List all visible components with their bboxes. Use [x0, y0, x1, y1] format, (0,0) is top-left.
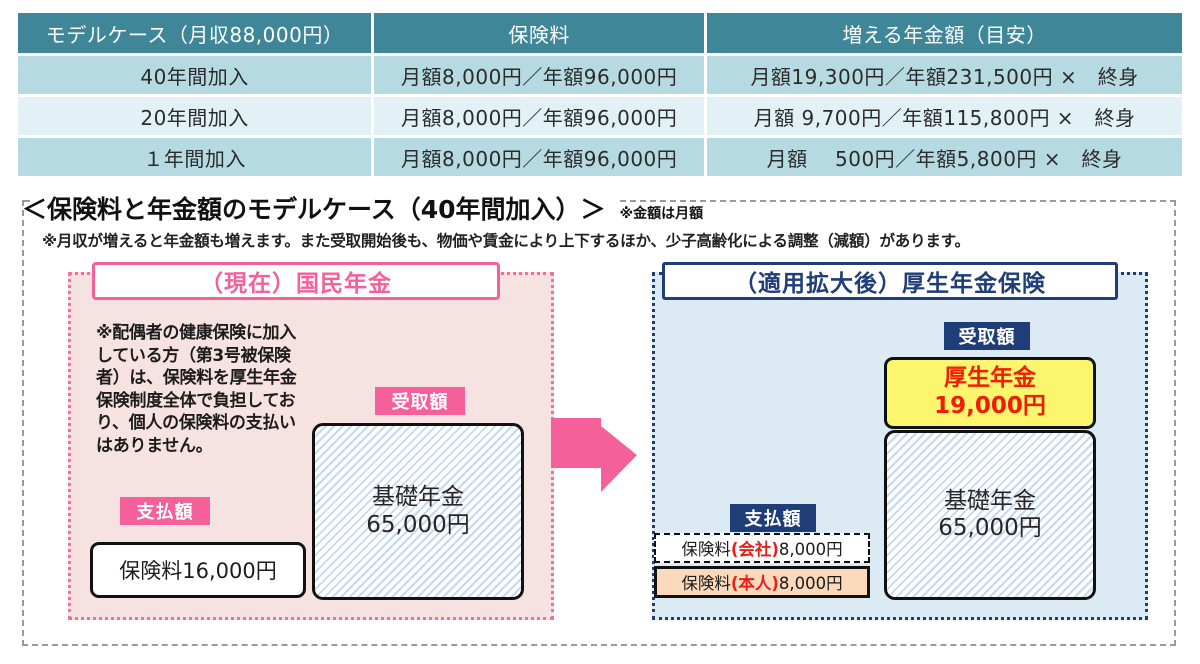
table-row: 20年間加入 月額8,000円／年額96,000円 月額 9,700円／年額11… — [18, 97, 1182, 135]
right-employee-pension-name: 厚生年金 — [944, 365, 1036, 393]
left-basic-pension-amount: 65,000円 — [366, 512, 469, 539]
right-panel-header: （適用拡大後）厚生年金保険 — [662, 262, 1118, 300]
model-case-table: モデルケース（月収88,000円） 保険料 増える年金額（目安） 40年間加入 … — [18, 10, 1182, 179]
table-header-case: モデルケース（月収88,000円） — [18, 13, 374, 53]
cell-case: 40年間加入 — [18, 56, 374, 94]
left-panel-header: （現在）国民年金 — [92, 262, 500, 300]
table-row: １年間加入 月額8,000円／年額96,000円 月額 500円／年額5,800… — [18, 138, 1182, 176]
table-header-premium: 保険料 — [374, 13, 707, 53]
diagram-sub-note: ※月収が増えると年金額も増えます。また受取開始後も、物価や賃金により上下するほか… — [42, 229, 970, 251]
left-basic-pension-name: 基礎年金 — [372, 484, 464, 511]
right-employee-pension-amount: 19,000円 — [934, 393, 1046, 421]
right-basic-pension-amount: 65,000円 — [938, 515, 1041, 542]
table-row: 40年間加入 月額8,000円／年額96,000円 月額19,300円／年額23… — [18, 56, 1182, 94]
left-premium-box: 保険料16,000円 — [90, 542, 306, 598]
right-receive-badge: 受取額 — [944, 322, 1030, 350]
pension-model-table: モデルケース（月収88,000円） 保険料 増える年金額（目安） 40年間加入 … — [18, 10, 1182, 179]
premium-company-amount: 8,000円 — [779, 536, 843, 560]
cell-increase: 月額 9,700円／年額115,800円 × 終身 — [707, 97, 1182, 135]
cell-premium: 月額8,000円／年額96,000円 — [374, 138, 707, 176]
table-header-row: モデルケース（月収88,000円） 保険料 増える年金額（目安） — [18, 13, 1182, 53]
right-pay-badge: 支払額 — [730, 504, 816, 532]
right-premium-company-box: 保険料(会社) 8,000円 — [654, 533, 870, 563]
table-header-increase: 増える年金額（目安） — [707, 13, 1182, 53]
premium-self-amount: 8,000円 — [779, 570, 843, 594]
premium-self-who: (本人) — [731, 570, 779, 594]
cell-premium: 月額8,000円／年額96,000円 — [374, 56, 707, 94]
cell-increase: 月額19,300円／年額231,500円 × 終身 — [707, 56, 1182, 94]
transition-arrow-icon — [551, 418, 637, 492]
premium-company-who: (会社) — [731, 536, 779, 560]
cell-case: 20年間加入 — [18, 97, 374, 135]
cell-case: １年間加入 — [18, 138, 374, 176]
left-receive-badge: 受取額 — [375, 387, 465, 415]
left-basic-pension-box: 基礎年金 65,000円 — [312, 423, 524, 600]
premium-company-prefix: 保険料 — [681, 536, 731, 560]
cell-increase: 月額 500円／年額5,800円 × 終身 — [707, 138, 1182, 176]
premium-self-prefix: 保険料 — [681, 570, 731, 594]
left-panel-description: ※配偶者の健康保険に加入している方（第3号被保険者）は、保険料を厚生年金保険制度… — [96, 322, 306, 458]
left-pay-badge: 支払額 — [120, 497, 210, 525]
right-basic-pension-name: 基礎年金 — [944, 488, 1036, 515]
cell-premium: 月額8,000円／年額96,000円 — [374, 97, 707, 135]
right-basic-pension-box: 基礎年金 65,000円 — [884, 430, 1096, 600]
right-employee-pension-box: 厚生年金 19,000円 — [884, 357, 1096, 429]
right-premium-self-box: 保険料(本人) 8,000円 — [654, 566, 870, 598]
